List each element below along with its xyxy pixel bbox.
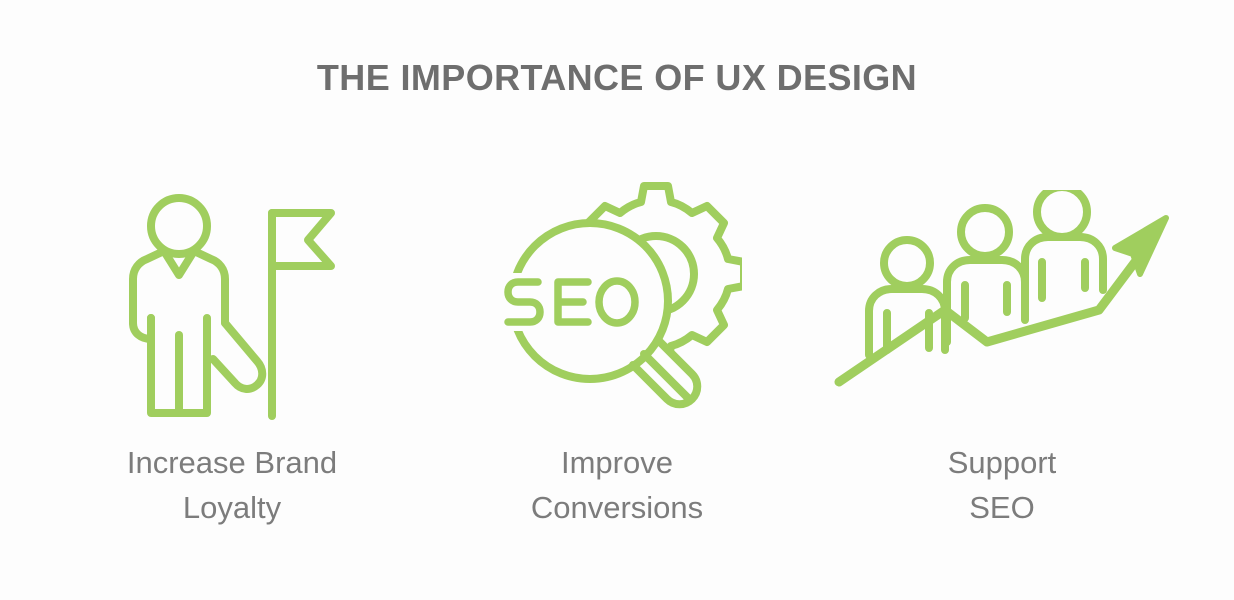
person-head-shape xyxy=(151,198,207,254)
flag-banner-shape xyxy=(272,213,331,266)
person-torso-shape xyxy=(133,251,225,323)
feature-columns: Increase Brand Loyalty xyxy=(0,165,1234,530)
icon-container xyxy=(827,165,1177,430)
person-2-arms-shape xyxy=(965,285,1007,318)
growth-arrow-head-shape xyxy=(1115,218,1166,274)
feature-caption-support-seo: Support SEO xyxy=(948,440,1057,530)
icon-container xyxy=(117,165,347,430)
people-growth-arrow-icon xyxy=(827,190,1177,405)
feature-column-brand-loyalty: Increase Brand Loyalty xyxy=(40,165,425,530)
gear-shape xyxy=(568,186,742,362)
person-3-body-shape xyxy=(1025,237,1103,318)
feature-caption-brand-loyalty: Increase Brand Loyalty xyxy=(127,440,337,530)
person-3-arms-shape xyxy=(1042,262,1085,298)
person-1-head-shape xyxy=(884,240,930,286)
feature-caption-conversions: Improve Conversions xyxy=(531,440,703,530)
person-2-head-shape xyxy=(961,208,1009,256)
feature-column-conversions: SEO Improve Conversions xyxy=(425,165,810,530)
feature-column-support-seo: Support SEO xyxy=(810,165,1195,530)
person-right-arm-shape xyxy=(213,323,262,389)
person-2-body-shape xyxy=(947,260,1025,342)
infographic-root: THE IMPORTANCE OF UX DESIGN xyxy=(0,0,1234,600)
gear-inner-circle-shape xyxy=(618,236,694,312)
seo-magnifier-gear-icon: SEO xyxy=(492,168,742,428)
icon-container: SEO xyxy=(492,165,742,430)
person-with-flag-icon xyxy=(117,173,347,423)
page-title: THE IMPORTANCE OF UX DESIGN xyxy=(0,57,1234,99)
person-3-head-shape xyxy=(1037,190,1087,237)
